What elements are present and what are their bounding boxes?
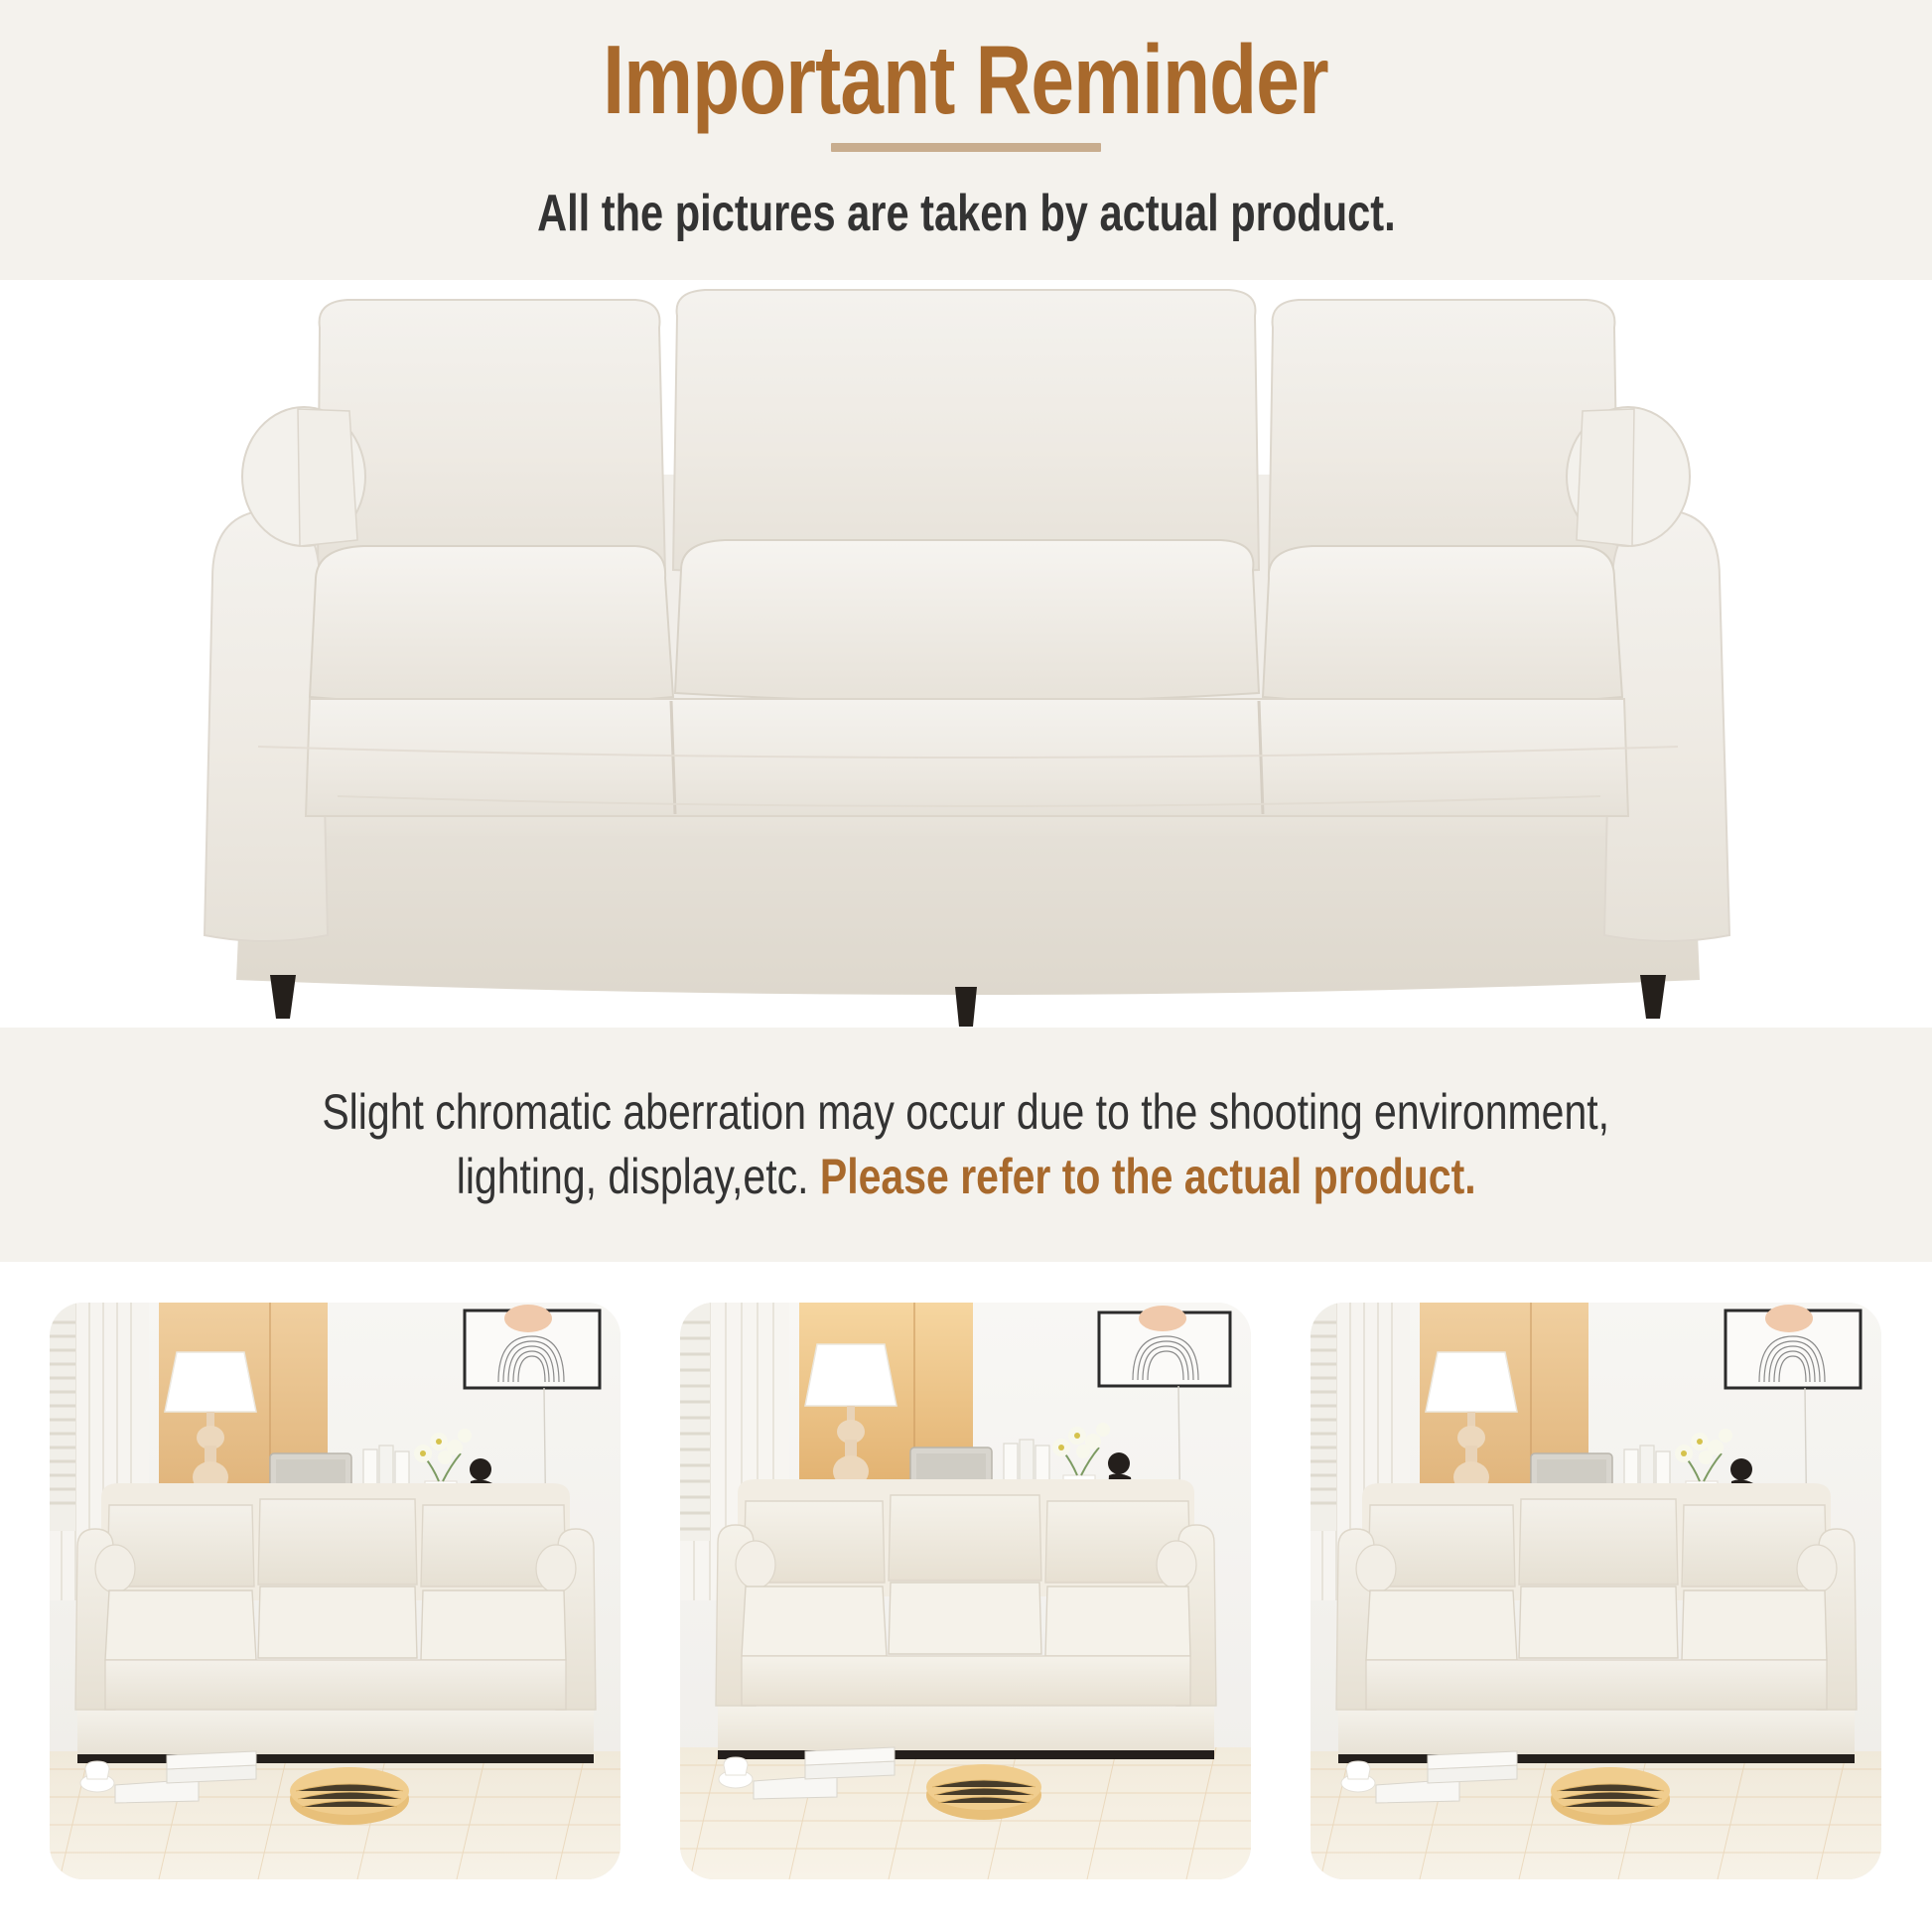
hero-product-image xyxy=(0,280,1932,1028)
notice-line-1: Slight chromatic aberration may occur du… xyxy=(323,1080,1610,1145)
title-underline-divider xyxy=(831,143,1101,152)
page-subtitle: All the pictures are taken by actual pro… xyxy=(537,184,1396,243)
scene-sofa xyxy=(1336,1483,1857,1763)
notice-band: Slight chromatic aberration may occur du… xyxy=(0,1028,1932,1262)
living-room-scene-illustration xyxy=(680,1303,1251,1879)
scene-sofa xyxy=(75,1483,596,1763)
page-title: Important Reminder xyxy=(604,26,1328,135)
thumbnail-strip xyxy=(0,1262,1932,1932)
living-room-scene-illustration xyxy=(1311,1303,1881,1879)
header-band: Important Reminder All the pictures are … xyxy=(0,0,1932,280)
living-room-scene-illustration xyxy=(50,1303,621,1879)
scene-sofa xyxy=(716,1479,1216,1759)
sofa-back-cushions xyxy=(318,290,1618,580)
sofa-seat-cushions xyxy=(310,540,1622,705)
sofa-illustration xyxy=(0,280,1932,1028)
notice-line-2: lighting, display,etc. Please refer to t… xyxy=(457,1145,1476,1209)
thumbnail-living-room-2[interactable] xyxy=(680,1303,1251,1879)
product-infographic-page: Important Reminder All the pictures are … xyxy=(0,0,1932,1932)
thumbnail-living-room-3[interactable] xyxy=(1311,1303,1881,1879)
notice-line-2-plain: lighting, display,etc. xyxy=(457,1149,820,1204)
thumbnail-living-room-1[interactable] xyxy=(50,1303,621,1879)
notice-line-2-accent: Please refer to the actual product. xyxy=(820,1149,1476,1204)
